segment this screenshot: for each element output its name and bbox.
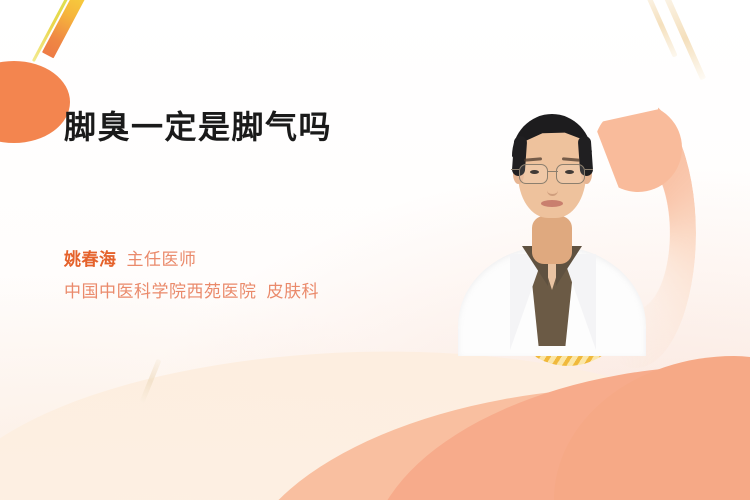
health-video-cover-card: 脚臭一定是脚气吗 姚春海主任医师 中国中医科学院西苑医院皮肤科 [0, 0, 750, 500]
glasses-temple-left [511, 169, 519, 170]
doctor-hospital: 中国中医科学院西苑医院 [64, 282, 257, 302]
glasses-bridge [547, 171, 558, 172]
doctor-name: 姚春海 [64, 250, 117, 270]
doctor-affiliation-line: 中国中医科学院西苑医院皮肤科 [64, 280, 464, 306]
doctor-name-line: 姚春海主任医师 [64, 248, 464, 274]
portrait-nose [547, 180, 558, 196]
doctor-portrait [452, 96, 652, 346]
headline-block: 脚臭一定是脚气吗 [64, 108, 464, 146]
doctor-department: 皮肤科 [267, 282, 320, 302]
glasses-temple-right [585, 169, 593, 170]
glasses-lens-right [556, 164, 585, 184]
page-title: 脚臭一定是脚气吗 [64, 108, 464, 146]
glasses-lens-left [519, 164, 548, 184]
doctor-title: 主任医师 [127, 250, 197, 270]
portrait-neck [532, 216, 572, 264]
doctor-credentials-block: 姚春海主任医师 中国中医科学院西苑医院皮肤科 [64, 248, 464, 305]
portrait-mouth [541, 200, 563, 207]
